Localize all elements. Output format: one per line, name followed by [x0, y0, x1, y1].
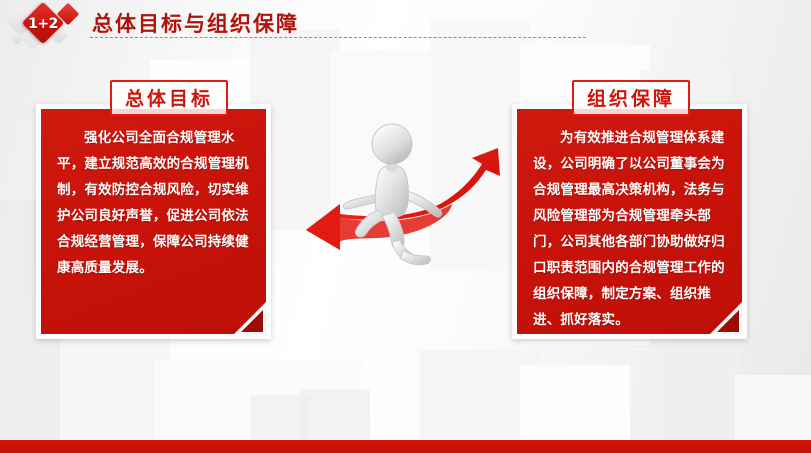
- slide-header: 1+2 总体目标与组织保障: [0, 0, 811, 48]
- card-organizational-guarantee-body: 为有效推进合规管理体系建设，公司明确了以公司董事会为合规管理最高决策机构，法务与…: [533, 125, 726, 333]
- folded-corner-icon: [233, 301, 266, 334]
- card-overall-goal-body: 强化公司全面合规管理水平，建立规范高效的合规管理机制，有效防控合规风险，切实维护…: [57, 125, 250, 281]
- card-organizational-guarantee: 为有效推进合规管理体系建设，公司明确了以公司董事会为合规管理最高决策机构，法务与…: [512, 104, 747, 339]
- footer-bar: [0, 440, 811, 453]
- card-organizational-guarantee-inner: 为有效推进合规管理体系建设，公司明确了以公司董事会为合规管理最高决策机构，法务与…: [517, 109, 742, 334]
- 3d-mannequin-icon: [343, 124, 441, 265]
- folded-corner-icon: [709, 301, 742, 334]
- card-overall-goal: 强化公司全面合规管理水平，建立规范高效的合规管理机制，有效防控合规风险，切实维护…: [36, 104, 271, 339]
- card-overall-goal-inner: 强化公司全面合规管理水平，建立规范高效的合规管理机制，有效防控合规风险，切实维护…: [41, 109, 266, 334]
- figure-riding-red-arrow-illustration: [300, 118, 515, 293]
- card-overall-goal-label: 总体目标: [110, 80, 228, 116]
- slide-canvas: 1+2 总体目标与组织保障 强化公司全面合规管理水平，建立规范高效的合规管理机制…: [0, 0, 811, 453]
- page-title: 总体目标与组织保障: [92, 8, 299, 38]
- diamond-cluster-icon: 1+2: [8, 2, 90, 46]
- header-divider: [90, 37, 586, 38]
- logo-badge-text: 1+2: [28, 9, 58, 39]
- card-organizational-guarantee-label: 组织保障: [572, 80, 690, 116]
- illustration-svg: [300, 118, 515, 293]
